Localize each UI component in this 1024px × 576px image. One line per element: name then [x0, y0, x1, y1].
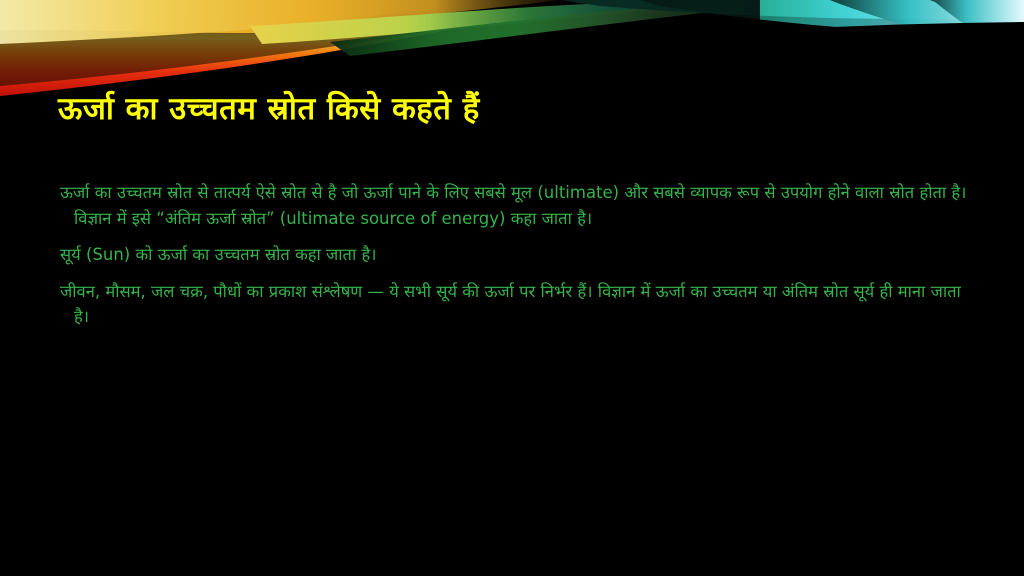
body-paragraph-1: ऊर्जा का उच्चतम स्रोत से तात्पर्य ऐसे स्…: [60, 180, 980, 231]
body-paragraph-2: सूर्य (Sun) को ऊर्जा का उच्चतम स्रोत कहा…: [60, 242, 980, 268]
body-content: ऊर्जा का उच्चतम स्रोत से तात्पर्य ऐसे स्…: [60, 180, 980, 330]
body-paragraph-3: जीवन, मौसम, जल चक्र, पौधों का प्रकाश संश…: [60, 279, 980, 330]
page-title: ऊर्जा का उच्चतम स्रोत किसे कहते हैं: [58, 92, 958, 128]
slide-canvas: ऊर्जा का उच्चतम स्रोत किसे कहते हैं ऊर्ज…: [0, 0, 1024, 576]
